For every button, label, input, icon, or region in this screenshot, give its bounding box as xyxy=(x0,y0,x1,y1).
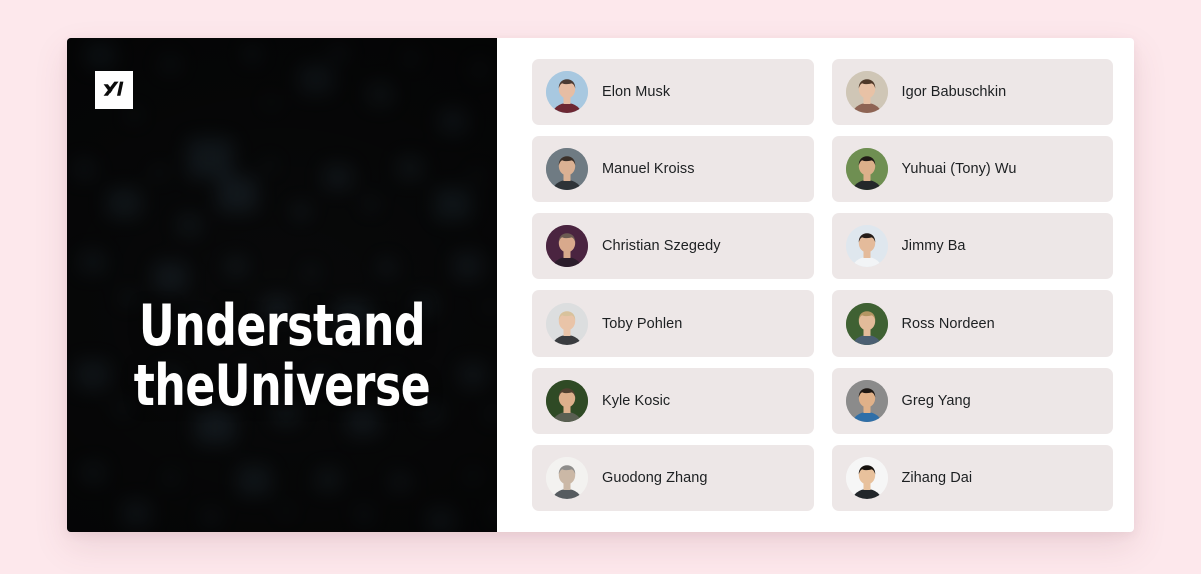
avatar xyxy=(546,303,588,345)
avatar xyxy=(546,457,588,499)
avatar xyxy=(546,380,588,422)
team-member-row[interactable]: Toby Pohlen xyxy=(532,290,814,356)
team-member-name: Christian Szegedy xyxy=(602,238,721,254)
xai-logo[interactable] xyxy=(95,71,133,109)
avatar xyxy=(846,303,888,345)
team-member-row[interactable]: Manuel Kroiss xyxy=(532,136,814,202)
team-member-row[interactable]: Elon Musk xyxy=(532,59,814,125)
team-member-row[interactable]: Zihang Dai xyxy=(832,445,1114,511)
avatar xyxy=(846,457,888,499)
team-member-row[interactable]: Greg Yang xyxy=(832,368,1114,434)
team-member-name: Toby Pohlen xyxy=(602,316,682,332)
team-member-name: Yuhuai (Tony) Wu xyxy=(902,161,1017,177)
team-card: Understand theUniverse Elon MuskIgor Bab… xyxy=(67,38,1134,532)
avatar xyxy=(846,71,888,113)
screenshot-stage: Understand theUniverse Elon MuskIgor Bab… xyxy=(0,0,1201,574)
avatar xyxy=(846,148,888,190)
hero-vignette xyxy=(67,38,497,532)
team-member-name: Kyle Kosic xyxy=(602,393,670,409)
team-member-name: Jimmy Ba xyxy=(902,238,966,254)
team-member-row[interactable]: Yuhuai (Tony) Wu xyxy=(832,136,1114,202)
team-member-row[interactable]: Christian Szegedy xyxy=(532,213,814,279)
hero-title-line-2: theUniverse xyxy=(133,356,431,416)
team-member-row[interactable]: Ross Nordeen xyxy=(832,290,1114,356)
avatar xyxy=(546,148,588,190)
team-member-name: Greg Yang xyxy=(902,393,971,409)
team-member-name: Zihang Dai xyxy=(902,470,973,486)
team-member-name: Elon Musk xyxy=(602,84,670,100)
team-member-name: Manuel Kroiss xyxy=(602,161,695,177)
team-member-row[interactable]: Igor Babuschkin xyxy=(832,59,1114,125)
team-member-name: Igor Babuschkin xyxy=(902,84,1007,100)
team-roster: Elon MuskIgor BabuschkinManuel KroissYuh… xyxy=(497,38,1134,532)
team-member-row[interactable]: Jimmy Ba xyxy=(832,213,1114,279)
hero-panel: Understand theUniverse xyxy=(67,38,497,532)
avatar xyxy=(546,71,588,113)
avatar xyxy=(846,380,888,422)
hero-title: Understand theUniverse xyxy=(97,296,467,417)
team-member-row[interactable]: Kyle Kosic xyxy=(532,368,814,434)
avatar xyxy=(846,225,888,267)
team-member-name: Ross Nordeen xyxy=(902,316,995,332)
hero-title-line-1: Understand xyxy=(133,296,431,356)
team-member-name: Guodong Zhang xyxy=(602,470,707,486)
team-member-row[interactable]: Guodong Zhang xyxy=(532,445,814,511)
avatar xyxy=(546,225,588,267)
